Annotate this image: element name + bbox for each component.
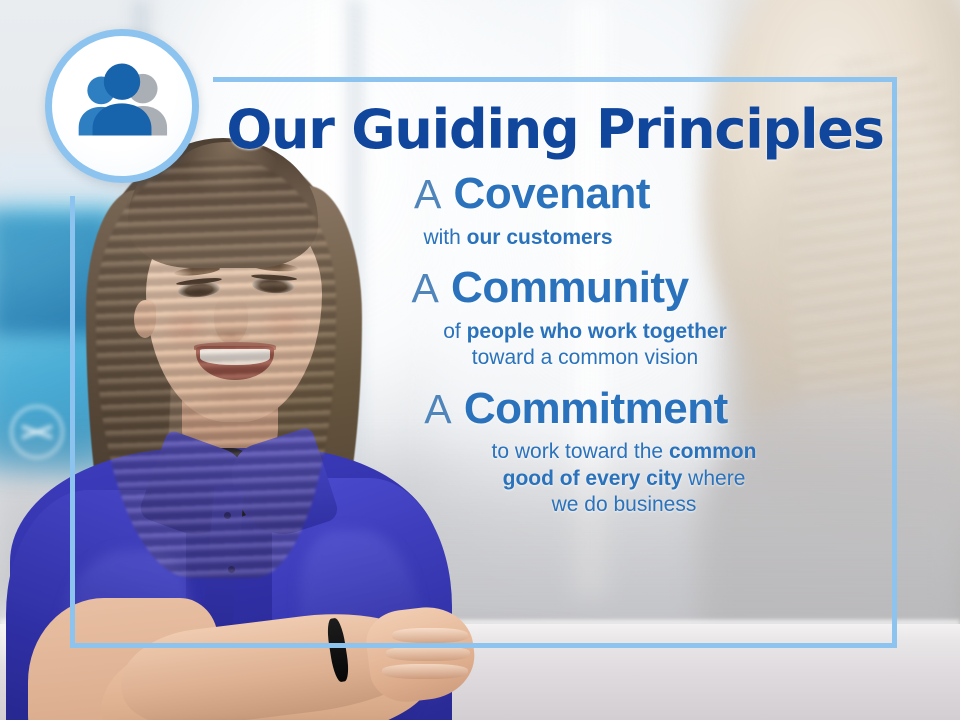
frame-border-left bbox=[70, 196, 75, 648]
subtext-plain: of bbox=[443, 320, 466, 343]
principle-subtext: to work toward the common good of every … bbox=[255, 439, 897, 518]
subtext-bold-1: common bbox=[669, 440, 757, 463]
finger bbox=[382, 664, 468, 679]
principle-article: A bbox=[411, 265, 438, 311]
subtext-line: we do business bbox=[351, 492, 897, 518]
principle-heading: A Commitment bbox=[255, 386, 897, 433]
principle-word: Covenant bbox=[454, 169, 650, 218]
frame-border-bottom bbox=[70, 643, 897, 648]
subtext-bold: people who work together bbox=[467, 320, 727, 343]
people-badge bbox=[45, 29, 199, 183]
subtext-line: toward a common vision bbox=[283, 345, 887, 371]
subtext-line: good of every city where bbox=[351, 466, 897, 492]
finger bbox=[386, 646, 470, 661]
principle-word: Commitment bbox=[464, 384, 728, 433]
subtext-line: of people who work together bbox=[283, 319, 887, 345]
page-title: Our Guiding Principles bbox=[213, 102, 897, 157]
subtext-plain: with bbox=[423, 226, 466, 249]
poster-canvas: FLOW FLOW AUTOMOTIVE bbox=[0, 0, 960, 720]
subtext-bold-2: good of every city bbox=[503, 467, 683, 490]
subtext-line: to work toward the common bbox=[351, 439, 897, 465]
principle-commitment: A Commitment to work toward the common g… bbox=[213, 386, 897, 519]
principle-word: Community bbox=[451, 263, 689, 312]
people-group-icon bbox=[70, 54, 174, 158]
principles-text-block: Our Guiding Principles A Covenant with o… bbox=[213, 82, 897, 642]
principle-community: A Community of people who work together … bbox=[213, 265, 897, 372]
subtext-bold: our customers bbox=[467, 226, 613, 249]
principle-article: A bbox=[414, 171, 441, 217]
principle-heading: A Community bbox=[213, 265, 887, 312]
principle-subtext: with our customers bbox=[213, 225, 851, 251]
principle-subtext: of people who work together toward a com… bbox=[213, 319, 887, 372]
principle-covenant: A Covenant with our customers bbox=[213, 171, 897, 251]
principle-heading: A Covenant bbox=[213, 171, 851, 218]
principle-article: A bbox=[424, 386, 451, 432]
